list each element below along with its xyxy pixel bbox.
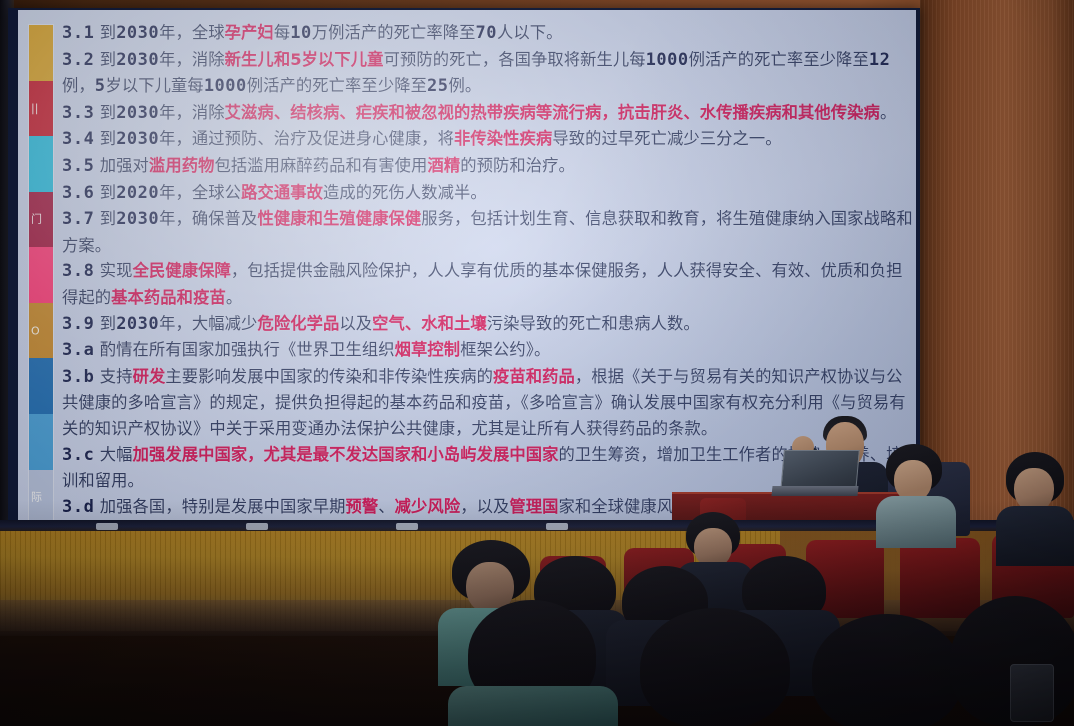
sdg-tile-clean-water: O xyxy=(29,303,53,359)
sdg-tile-decent-work xyxy=(29,414,53,470)
slide-line-3.9: 3.9 到2030年，大幅减少危险化学品以及空气、水和土壤污染导致的死亡和患病人… xyxy=(62,311,914,338)
slide-line-3.3: 3.3 到2030年，消除艾滋病、结核病、疟疾和被忽视的热带疾病等流行病，抗击肝… xyxy=(62,100,914,127)
trim-light xyxy=(96,523,118,530)
sdg-tile-quality-education: 门 xyxy=(29,192,53,248)
sdg-tile-no-poverty xyxy=(29,25,53,81)
audience-phone xyxy=(1010,664,1054,722)
slide-line-3.7: 3.7 到2030年，确保普及性健康和生殖健康保健服务，包括计划生育、信息获取和… xyxy=(62,206,914,258)
sdg-tile-glyph: || xyxy=(31,103,38,114)
slide-line-3.5: 3.5 加强对滥用药物包括滥用麻醉药品和有害使用酒精的预防和治疗。 xyxy=(62,153,914,180)
slide-line-3.4: 3.4 到2030年，通过预防、治疗及促进身心健康，将非传染性疾病导致的过早死亡… xyxy=(62,126,914,153)
trim-light xyxy=(246,523,268,530)
slide-line-3.a: 3.a 酌情在所有国家加强执行《世界卫生组织烟草控制框架公约》。 xyxy=(62,337,914,364)
audience-seat xyxy=(900,538,980,618)
lecture-hall-scene: || 门 O 际 3.1 到2030年，全球孕产妇每10万例活产的死亡率降至70… xyxy=(0,0,1074,726)
sdg-tile-glyph: O xyxy=(31,325,40,336)
trim-light xyxy=(546,523,568,530)
slide-line-3.2: 3.2 到2030年，消除新生儿和5岁以下儿童可预防的死亡，各国争取将新生儿每1… xyxy=(62,47,914,100)
slide-line-3.8: 3.8 实现全民健康保障，包括提供金融风险保护，人人享有优质的基本保健服务，人人… xyxy=(62,258,914,310)
right-wood-wall-panel xyxy=(920,0,1074,530)
sdg-tile-partnerships: 际 xyxy=(29,470,53,523)
sdg-goal-icon-column: || 门 O 际 xyxy=(28,24,54,522)
slide-target-list: 3.1 到2030年，全球孕产妇每10万例活产的死亡率降至70人以下。3.2 到… xyxy=(62,20,914,520)
slide-line-3.b: 3.b 支持研发主要影响发展中国家的传染和非传染性疾病的疫苗和药品，根据《关于与… xyxy=(62,364,914,442)
sdg-tile-zero-hunger: || xyxy=(29,81,53,137)
sdg-tile-glyph: 门 xyxy=(31,214,42,225)
sdg-tile-good-health xyxy=(29,136,53,192)
slide-line-3.1: 3.1 到2030年，全球孕产妇每10万例活产的死亡率降至70人以下。 xyxy=(62,20,914,47)
projection-screen: || 门 O 际 3.1 到2030年，全球孕产妇每10万例活产的死亡率降至70… xyxy=(18,10,916,522)
slide-line-3.6: 3.6 到2020年，全球公路交通事故造成的死伤人数减半。 xyxy=(62,180,914,207)
trim-light xyxy=(396,523,418,530)
sdg-tile-gender-equality xyxy=(29,247,53,303)
laptop-keyboard xyxy=(771,486,858,496)
sdg-tile-glyph: 际 xyxy=(31,492,42,503)
projection-screen-frame: || 门 O 际 3.1 到2030年，全球孕产妇每10万例活产的死亡率降至70… xyxy=(8,8,920,524)
sdg-tile-affordable-energy xyxy=(29,358,53,414)
